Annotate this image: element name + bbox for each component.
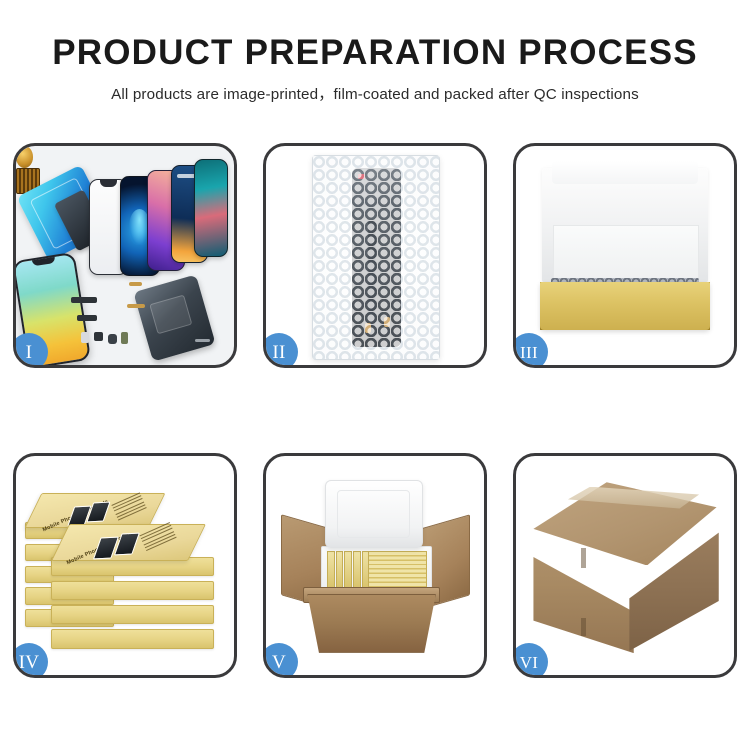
step-3-image: III [516, 146, 734, 365]
carton-seam-lower [581, 618, 586, 636]
yellow-box-group [368, 551, 427, 590]
earpiece-mesh-part [71, 297, 97, 302]
box-layer-fr-4 [51, 629, 214, 649]
process-step-panel-2: II [263, 143, 487, 368]
step-6-image: VI [516, 456, 734, 675]
copper-coil-part [16, 146, 33, 168]
yellow-inner-box [540, 282, 710, 330]
product-preparation-process-page: PRODUCT PREPARATION PROCESS All products… [0, 0, 750, 750]
speaker-part [108, 334, 118, 344]
yellow-box-stack: Mobile Phone Spare Parts Mobile Phone Sp… [16, 456, 234, 675]
process-step-panel-6: VI [513, 453, 737, 678]
page-title: PRODUCT PREPARATION PROCESS [0, 0, 750, 72]
step-badge-3: III [516, 333, 548, 365]
bubble-texture [313, 156, 439, 360]
process-step-panel-5: V [263, 453, 487, 678]
screws-part [195, 339, 210, 342]
process-step-panel-1: I [13, 143, 237, 368]
process-step-panel-4: Mobile Phone Spare Parts Mobile Phone Sp… [13, 453, 237, 678]
foam-lid [325, 480, 423, 548]
step-5-image: V [266, 456, 484, 675]
yellow-box-edge-3 [344, 551, 352, 590]
carton-front-panel [307, 594, 435, 653]
step-2-image: II [266, 146, 484, 365]
step-badge-5: V [266, 643, 298, 675]
teal-wave-phone-screen [194, 159, 229, 257]
process-step-panel-3: III [513, 143, 737, 368]
sim-tray-part [81, 332, 89, 343]
yellow-box-edge-1 [327, 551, 335, 590]
camera-module-part [94, 332, 103, 341]
process-steps-grid: I II [13, 143, 737, 680]
step-badge-2: II [266, 333, 298, 365]
yellow-box-edge-4 [353, 551, 361, 590]
bubble-wrap-bag [312, 155, 440, 361]
power-button-flex-part [129, 282, 142, 286]
phone-back-housing-part [134, 274, 217, 361]
page-subtitle: All products are image-printed，film-coat… [0, 72, 750, 104]
sealed-carton-illustration [516, 456, 734, 675]
volume-button-flex-part [127, 304, 144, 308]
phone-parts-assortment-illustration [16, 146, 234, 365]
page-header: PRODUCT PREPARATION PROCESS All products… [0, 0, 750, 104]
flex-cable-part [77, 315, 97, 322]
box-layer-fr-2 [51, 581, 214, 601]
step-4-image: Mobile Phone Spare Parts Mobile Phone Sp… [16, 456, 234, 675]
box-layer-fr-3 [51, 605, 214, 625]
carton-seam-upper [581, 548, 586, 568]
battery-connector-part [121, 332, 129, 344]
yellow-box-edge-2 [336, 551, 344, 590]
step-1-image: I [16, 146, 234, 365]
